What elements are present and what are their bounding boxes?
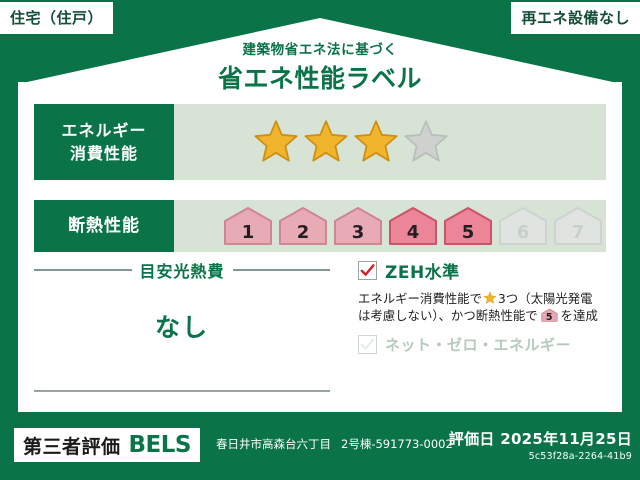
energy-performance-key: エネルギー 消費性能 xyxy=(34,104,174,180)
insulation-level-number: 4 xyxy=(387,224,439,242)
energy-performance-row: エネルギー 消費性能 xyxy=(34,104,606,180)
check-icon xyxy=(360,263,375,278)
energy-key-line1: エネルギー xyxy=(61,119,146,142)
insulation-level-number: 2 xyxy=(277,224,329,242)
zeh-description: エネルギー消費性能で3つ（太陽光発電 は考慮しない）、かつ断熱性能で5を達成 xyxy=(358,290,610,324)
star-empty-icon xyxy=(402,118,450,166)
insulation-house-filled: 4 xyxy=(387,206,439,246)
address-text: 春日井市高森台六丁目 xyxy=(216,437,331,451)
insulation-house-empty: 6 xyxy=(497,206,549,246)
insulation-house-filled: 2 xyxy=(277,206,329,246)
inline-house-number: 5 xyxy=(540,313,559,323)
evaluation-uid: 5c53f28a-2264-41b9 xyxy=(449,451,632,462)
rule-left xyxy=(34,269,132,271)
building-number: 2号棟-591773-0002 xyxy=(341,437,453,451)
bels-logo: 第三者評価 BELS xyxy=(14,428,200,462)
evaluation-info: 評価日 2025年11月25日 5c53f28a-2264-41b9 xyxy=(449,428,632,462)
building-type-tag: 住宅（住戸） xyxy=(0,2,113,34)
label-footer: 第三者評価 BELS 春日井市高森台六丁目2号棟-591773-0002 評価日… xyxy=(0,424,640,480)
zeh-heading: ZEH水準 xyxy=(358,258,610,283)
bels-wordmark: BELS xyxy=(129,432,191,458)
utility-cost-block: 目安光熱費 なし xyxy=(34,258,330,344)
insulation-performance-key: 断熱性能 xyxy=(34,200,174,252)
zeh-desc-part3: は考慮しない）、かつ断熱性能で xyxy=(358,308,538,323)
evaluation-date: 評価日 2025年11月25日 xyxy=(449,428,632,449)
insulation-performance-value: 1234567 xyxy=(174,200,606,252)
third-party-eval-text: 第三者評価 xyxy=(23,432,121,459)
insulation-performance-row: 断熱性能 1234567 xyxy=(34,200,606,252)
utility-cost-heading: 目安光熱費 xyxy=(34,258,330,282)
insulation-house-empty: 7 xyxy=(552,206,604,246)
net-zero-energy-checkbox[interactable] xyxy=(358,335,377,354)
insulation-level-scale: 1234567 xyxy=(222,206,604,246)
check-icon-faded xyxy=(360,337,375,352)
zeh-title: ZEH水準 xyxy=(385,258,460,283)
insulation-level-number: 7 xyxy=(552,224,604,242)
zeh-desc-part1: エネルギー消費性能で xyxy=(358,291,482,306)
net-zero-energy-row: ネット・ゼロ・エネルギー xyxy=(358,334,610,355)
insulation-house-filled: 3 xyxy=(332,206,384,246)
insulation-level-number: 3 xyxy=(332,224,384,242)
zeh-checkbox[interactable] xyxy=(358,261,377,280)
renewable-equipment-tag: 再エネ設備なし xyxy=(511,2,640,34)
insulation-level-number: 5 xyxy=(442,224,494,242)
zeh-desc-part2: 3つ（太陽光発電 xyxy=(498,291,593,306)
insulation-level-number: 1 xyxy=(222,224,274,242)
evaluation-date-label: 評価日 xyxy=(449,430,495,448)
net-zero-energy-label: ネット・ゼロ・エネルギー xyxy=(385,334,571,355)
evaluation-date-value: 2025年11月25日 xyxy=(500,430,632,448)
utility-cost-underline xyxy=(34,390,330,392)
energy-label-card: 住宅（住戸） 再エネ設備なし 建築物省エネ法に基づく 省エネ性能ラベル エネルギ… xyxy=(0,0,640,480)
energy-key-line2: 消費性能 xyxy=(70,142,138,165)
inline-star-icon xyxy=(483,291,497,305)
star-filled-icon xyxy=(302,118,350,166)
star-filled-icon xyxy=(252,118,300,166)
rule-right xyxy=(233,269,331,271)
insulation-house-filled: 1 xyxy=(222,206,274,246)
utility-cost-value: なし xyxy=(34,308,330,344)
zeh-desc-part4: を達成 xyxy=(561,308,598,323)
star-rating xyxy=(252,118,450,166)
property-address: 春日井市高森台六丁目2号棟-591773-0002 xyxy=(216,436,453,452)
insulation-level-number: 6 xyxy=(497,224,549,242)
zeh-block: ZEH水準 エネルギー消費性能で3つ（太陽光発電 は考慮しない）、かつ断熱性能で… xyxy=(358,258,610,355)
insulation-house-filled: 5 xyxy=(442,206,494,246)
inline-house-badge: 5 xyxy=(540,308,559,322)
energy-performance-value xyxy=(174,104,606,180)
utility-cost-title: 目安光熱費 xyxy=(140,258,225,282)
star-filled-icon xyxy=(352,118,400,166)
